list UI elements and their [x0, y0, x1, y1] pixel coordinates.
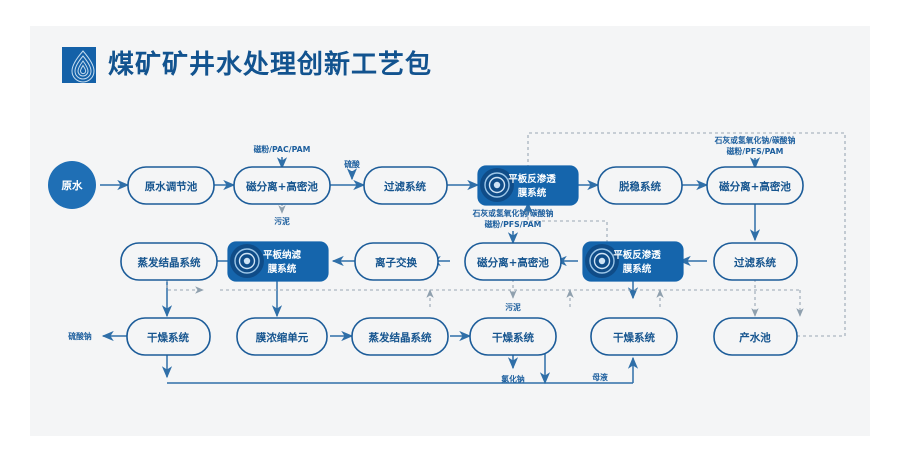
chem-label-4b: 磁粉/PFS/PAM	[485, 219, 542, 229]
node-drying-2[interactable]: 干燥系统	[470, 318, 556, 355]
page-header: 煤矿矿井水处理创新工艺包	[62, 47, 432, 83]
node-ion-exchange[interactable]: 离子交换	[355, 243, 438, 280]
output-label-sludge-1: 污泥	[274, 216, 290, 226]
output-sodium-chloride: 氯化钠	[501, 354, 525, 384]
node-mag-sep-3[interactable]: 磁分离+高密池	[465, 243, 561, 280]
node-flat-nf[interactable]: 平板纳滤 膜系统	[228, 242, 328, 281]
page-title: 煤矿矿井水处理创新工艺包	[108, 52, 432, 78]
ro-permeate-feedback-path	[528, 133, 845, 336]
node-label-flat-ro-1-line2: 膜系统	[517, 187, 547, 199]
node-label-ion-exchange: 离子交换	[375, 256, 417, 269]
node-label-flat-ro-2-line2: 膜系统	[622, 263, 652, 275]
node-mag-sep-1[interactable]: 磁分离+高密池	[234, 167, 330, 204]
node-raw-water[interactable]: 原水	[48, 161, 96, 209]
node-membrane-conc[interactable]: 膜浓缩单元	[237, 318, 327, 355]
node-label-flat-nf-line1: 平板纳滤	[263, 249, 302, 261]
node-product-pool[interactable]: 产水池	[714, 318, 797, 355]
node-filtration-2[interactable]: 过滤系统	[714, 243, 797, 280]
node-label-raw-water-tank: 原水调节池	[145, 180, 198, 193]
chem-input-2: 硫酸	[344, 159, 360, 179]
node-flat-ro-1[interactable]: 平板反渗透 膜系统	[478, 166, 578, 205]
chem-label-2: 硫酸	[344, 159, 360, 169]
node-label-drying-1: 干燥系统	[147, 331, 189, 344]
node-label-membrane-conc: 膜浓缩单元	[256, 331, 309, 344]
output-label-sodium-sulfate: 硫酸钠	[68, 331, 92, 341]
node-evap-cryst-2[interactable]: 蒸发结晶系统	[352, 318, 448, 355]
node-filtration-1[interactable]: 过滤系统	[364, 167, 447, 204]
node-label-mag-sep-3: 磁分离+高密池	[477, 256, 549, 269]
node-label-raw-water: 原水	[62, 179, 83, 192]
chem-label-3b: 磁粉/PFS/PAM	[727, 146, 784, 156]
node-label-evap-cryst-1: 蒸发结晶系统	[138, 256, 201, 269]
node-mag-sep-2[interactable]: 磁分离+高密池	[707, 167, 803, 204]
chem-label-1: 磁粉/PAC/PAM	[254, 144, 311, 154]
screenshot-root: 煤矿矿井水处理创新工艺包 磁粉/PA	[0, 0, 900, 463]
output-sodium-sulfate: 硫酸钠	[68, 331, 127, 341]
chem-label-3a: 石灰或氢氧化钠/碳酸钠	[714, 135, 796, 145]
spiral-membrane-icon	[230, 244, 264, 278]
node-destabilize[interactable]: 脱稳系统	[598, 167, 682, 204]
bottom-recycle-line: 母液	[167, 354, 633, 383]
node-label-flat-nf-line2: 膜系统	[267, 263, 297, 275]
node-label-drying-2: 干燥系统	[492, 331, 534, 344]
node-drying-1[interactable]: 干燥系统	[127, 318, 210, 355]
chem-input-1: 磁粉/PAC/PAM	[254, 144, 311, 168]
node-raw-water-tank[interactable]: 原水调节池	[128, 167, 214, 204]
node-label-mag-sep-2: 磁分离+高密池	[719, 180, 791, 193]
node-flat-ro-2[interactable]: 平板反渗透 膜系统	[583, 242, 683, 281]
node-label-flat-ro-1-line1: 平板反渗透	[508, 173, 556, 185]
water-ripple-logo-icon	[62, 47, 96, 83]
node-label-product-pool: 产水池	[739, 331, 771, 344]
row2-to-row3-links: 污泥	[167, 279, 755, 316]
chem-label-4a: 石灰或氢氧化钠/碳酸钠	[472, 208, 554, 218]
node-evap-cryst-1[interactable]: 蒸发结晶系统	[121, 243, 217, 280]
output-sludge-1: 污泥	[274, 203, 290, 226]
output-label-sludge-2: 污泥	[505, 302, 521, 312]
chem-input-3: 石灰或氢氧化钠/碳酸钠 磁粉/PFS/PAM	[714, 135, 796, 168]
node-label-evap-cryst-2: 蒸发结晶系统	[369, 331, 432, 344]
node-label-drying-3: 干燥系统	[613, 331, 655, 344]
node-drying-3[interactable]: 干燥系统	[591, 318, 677, 355]
recycle-dashed-line	[167, 279, 800, 316]
node-label-filtration-2: 过滤系统	[734, 256, 776, 269]
chem-input-4: 石灰或氢氧化钠/碳酸钠 磁粉/PFS/PAM	[472, 208, 554, 243]
node-label-filtration-1: 过滤系统	[384, 180, 426, 193]
node-label-destabilize: 脱稳系统	[619, 180, 661, 193]
node-label-mag-sep-1: 磁分离+高密池	[246, 180, 318, 193]
output-label-mother-liquor: 母液	[592, 372, 608, 382]
node-label-flat-ro-2-line1: 平板反渗透	[613, 249, 661, 261]
